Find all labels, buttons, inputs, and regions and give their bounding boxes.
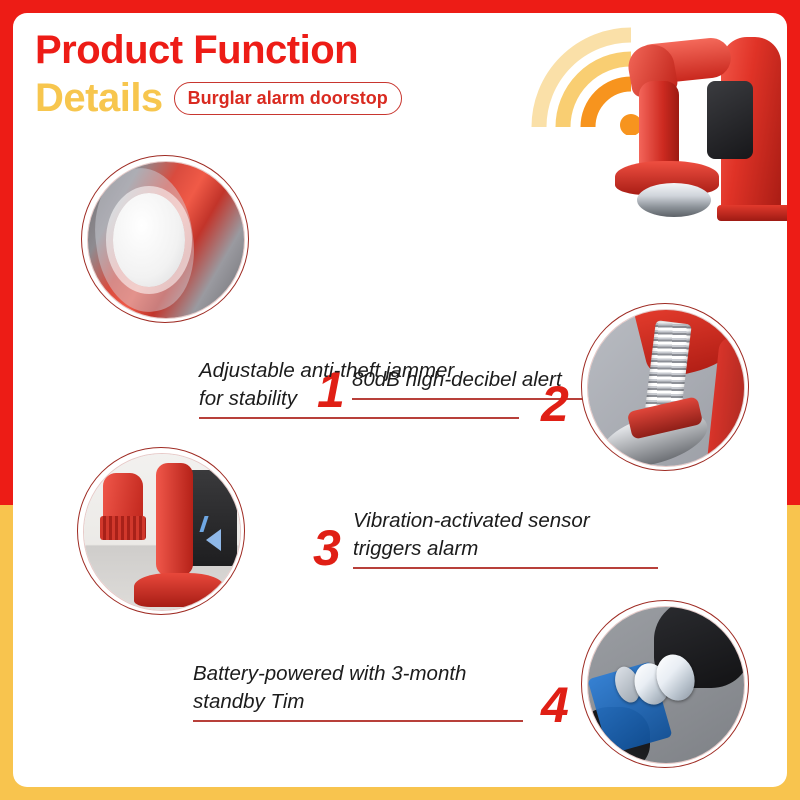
feature-2-label: Adjustable anti-theft jammer for stabili…: [199, 357, 519, 413]
feature-3-textblock: Vibration-activated sensor triggers alar…: [353, 507, 658, 569]
infographic-frame: Product Function Details Burglar alarm d…: [0, 0, 800, 800]
feature-1-image: [81, 155, 249, 323]
feature-row-1: 1 80dB high-decibel alert: [69, 153, 689, 323]
feature-4-number: 4: [541, 680, 569, 730]
feature-3-number: 3: [313, 523, 341, 573]
content-panel: Product Function Details Burglar alarm d…: [13, 13, 787, 787]
feature-row-4: 4 Battery-powered with 3-month standby T…: [143, 598, 783, 768]
feature-4-textblock: Battery-powered with 3-month standby Tim: [193, 660, 523, 722]
feature-2-underline: [199, 417, 519, 419]
feature-4-label: Battery-powered with 3-month standby Tim: [193, 660, 523, 716]
feature-3-label: Vibration-activated sensor triggers alar…: [353, 507, 658, 563]
product-category-badge: Burglar alarm doorstop: [174, 82, 402, 115]
feature-2-textblock: Adjustable anti-theft jammer for stabili…: [199, 357, 519, 419]
feature-3-image: [77, 447, 245, 615]
feature-2-number: 2: [541, 379, 569, 429]
feature-row-3: 3 Vibration-activated sensor triggers al…: [65, 445, 695, 615]
feature-4-underline: [193, 720, 523, 722]
feature-4-image: [581, 600, 749, 768]
page-title-line1: Product Function: [35, 27, 555, 73]
page-title-line2: Details: [35, 75, 163, 121]
feature-3-underline: [353, 567, 658, 569]
header: Product Function Details Burglar alarm d…: [35, 27, 555, 121]
